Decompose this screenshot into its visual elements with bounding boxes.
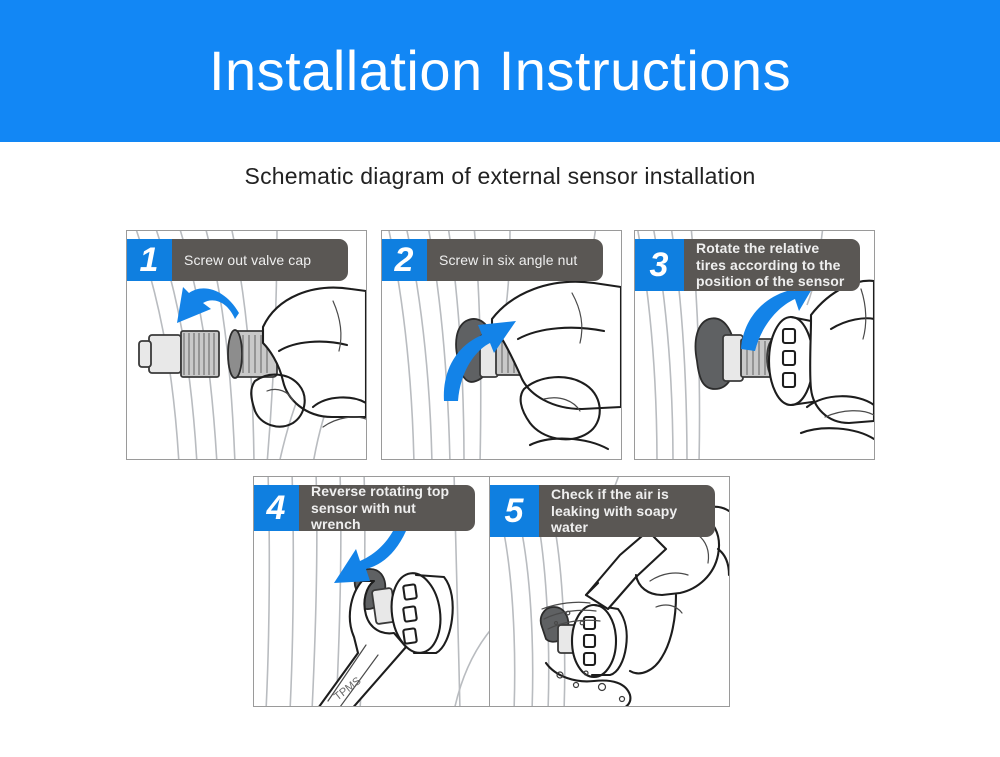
step-panel-5: 5 Check if the air is leaking with soapy… xyxy=(489,476,730,707)
step-panel-1: 1 Screw out valve cap xyxy=(126,230,367,460)
page-title: Installation Instructions xyxy=(209,43,791,99)
subtitle: Schematic diagram of external sensor ins… xyxy=(0,163,1000,190)
step-panel-2: 2 Screw in six angle nut xyxy=(381,230,622,460)
step-2-text: Screw in six angle nut xyxy=(427,239,603,281)
header-banner: Installation Instructions xyxy=(0,0,1000,142)
step-panel-3: Rotate the relative tires according to t… xyxy=(634,230,875,460)
step-2-number: 2 xyxy=(381,239,427,281)
step-1-text: Screw out valve cap xyxy=(172,239,348,281)
step-2-label: 2 Screw in six angle nut xyxy=(381,239,603,281)
step-5-text: Check if the air is leaking with soapy w… xyxy=(539,485,715,537)
step-3-text-wrap: Rotate the relative tires according to t… xyxy=(684,239,860,291)
step-1-label: 1 Screw out valve cap xyxy=(126,239,348,281)
step-5-label: 5 Check if the air is leaking with soapy… xyxy=(489,485,715,537)
step-panel-4: TPMS 4 Reverse rotating top sensor with … xyxy=(253,476,494,707)
step-3-label: Rotate the relative tires according to t… xyxy=(634,239,860,291)
step-4-number: 4 xyxy=(253,485,299,531)
step-3-text: Rotate the relative tires according to t… xyxy=(696,240,850,290)
step-4-text: Reverse rotating top sensor with nut wre… xyxy=(299,485,475,531)
step-3-number: 3 xyxy=(634,239,684,291)
step-1-number: 1 xyxy=(126,239,172,281)
step-5-number: 5 xyxy=(489,485,539,537)
blue-arrow-1 xyxy=(177,287,239,323)
step-4-label: 4 Reverse rotating top sensor with nut w… xyxy=(253,485,475,531)
